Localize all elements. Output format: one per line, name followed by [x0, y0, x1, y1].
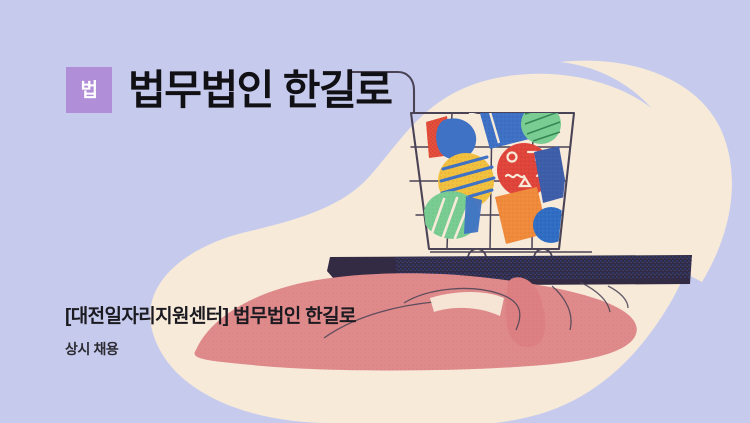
company-header: 법 법무법인 한길로: [66, 67, 391, 113]
posting-title: [대전일자리지원센터] 법무법인 한길로: [65, 305, 356, 329]
job-posting-banner: 법 법무법인 한길로 [대전일자리지원센터] 법무법인 한길로 상시 채용: [0, 0, 750, 423]
company-name: 법무법인 한길로: [128, 70, 391, 111]
company-initial-badge-label: 법: [81, 81, 98, 100]
company-initial-badge-icon: 법: [66, 67, 112, 113]
shopping-basket-illustration: [0, 0, 750, 423]
posting-info: [대전일자리지원센터] 법무법인 한길로 상시 채용: [65, 305, 356, 358]
posting-subtitle: 상시 채용: [65, 341, 356, 359]
